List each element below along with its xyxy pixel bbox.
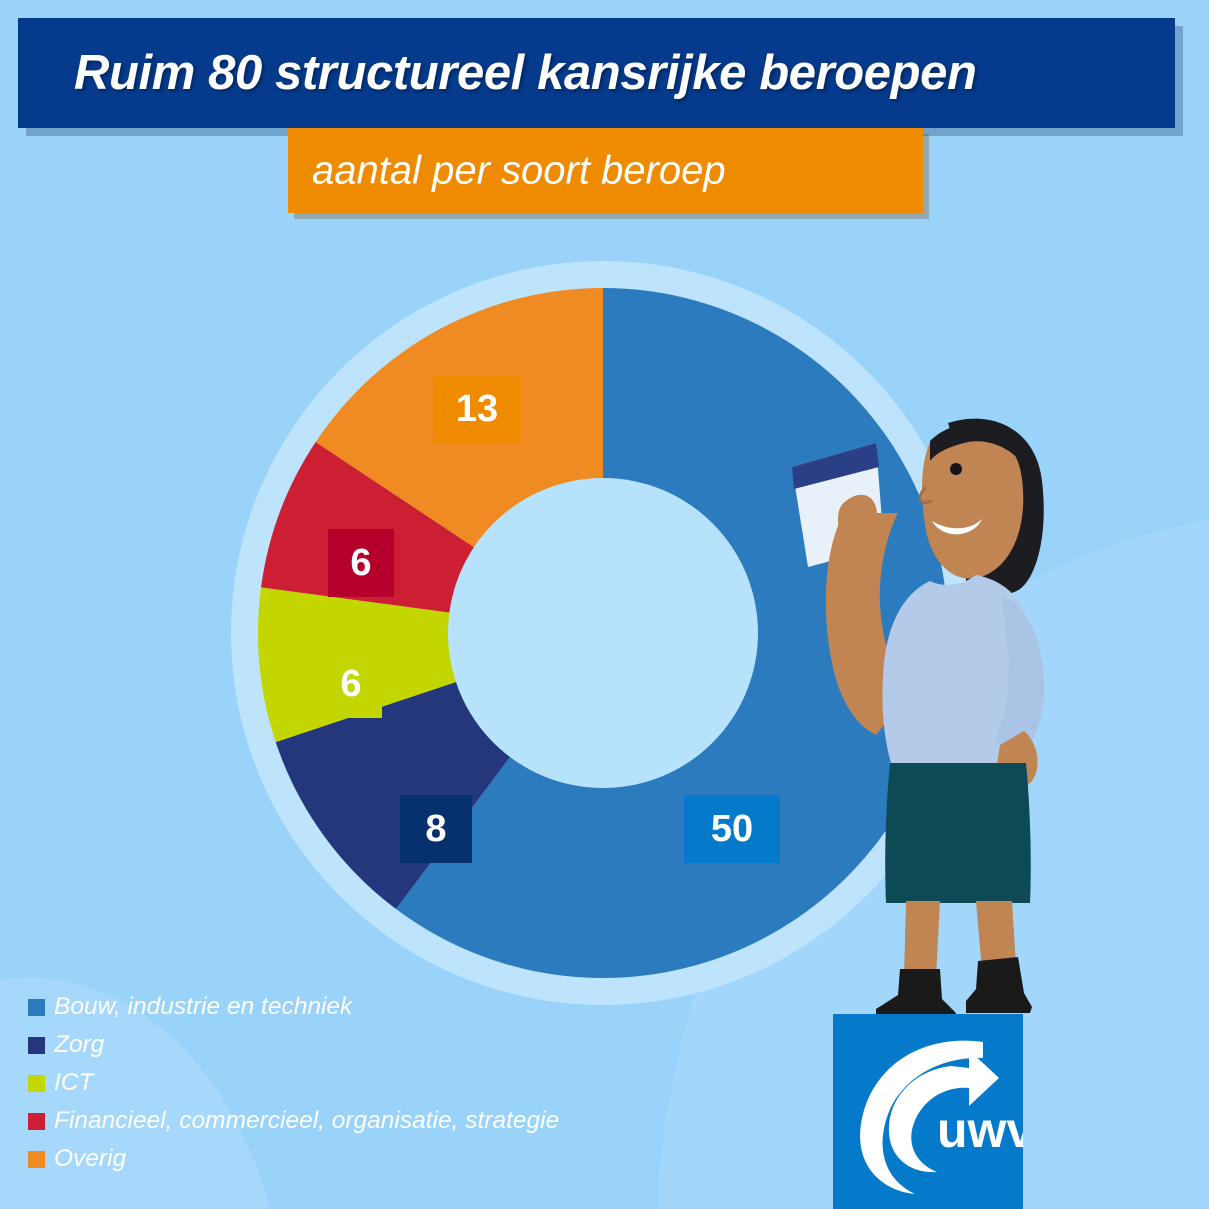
slice-label-zorg: 8 xyxy=(400,795,472,863)
legend-item[interactable]: Bouw, industrie en techniek xyxy=(28,988,728,1026)
page-title: Ruim 80 structureel kansrijke beroepen xyxy=(74,45,977,101)
legend-item-label: Bouw, industrie en techniek xyxy=(54,993,352,1021)
legend-item-label: Zorg xyxy=(54,1031,104,1059)
uwv-logo-mark-icon: uwv xyxy=(833,1014,1023,1209)
slice-label-value: 8 xyxy=(425,810,446,848)
slice-label-value: 13 xyxy=(456,390,498,428)
subtitle-box: aantal per soort beroep xyxy=(288,128,923,213)
slice-label-overig: 13 xyxy=(433,375,521,443)
legend-item-label: Financieel, commercieel, organisatie, st… xyxy=(54,1107,559,1135)
page-subtitle: aantal per soort beroep xyxy=(312,148,726,193)
skirt xyxy=(885,763,1031,903)
legend-swatch-icon xyxy=(28,1113,45,1130)
slice-label-value: 6 xyxy=(350,544,371,582)
legend-item[interactable]: Financieel, commercieel, organisatie, st… xyxy=(28,1102,728,1140)
slice-label-value: 50 xyxy=(711,810,753,848)
infographic-poster: Ruim 80 structureel kansrijke beroepen a… xyxy=(0,0,1209,1209)
right-boot xyxy=(966,957,1032,1013)
legend-swatch-icon xyxy=(28,1075,45,1092)
legend-item[interactable]: ICT xyxy=(28,1064,728,1102)
legend-item[interactable]: Zorg xyxy=(28,1026,728,1064)
legend-swatch-icon xyxy=(28,1151,45,1168)
legend-item-label: ICT xyxy=(54,1069,93,1097)
chart-legend: Bouw, industrie en techniek Zorg ICT Fin… xyxy=(28,988,728,1178)
uwv-logo[interactable]: uwv xyxy=(833,1014,1023,1209)
slice-label-value: 6 xyxy=(340,665,361,703)
legend-item[interactable]: Overig xyxy=(28,1140,728,1178)
slice-label-bouw-industrie-en-techniek: 50 xyxy=(684,795,780,863)
left-boot xyxy=(876,969,956,1019)
uwv-wordmark: uwv xyxy=(937,1102,1023,1158)
legend-swatch-icon xyxy=(28,1037,45,1054)
legend-item-label: Overig xyxy=(54,1145,126,1173)
eye xyxy=(950,463,962,475)
title-bar: Ruim 80 structureel kansrijke beroepen xyxy=(18,18,1175,128)
slice-label-financieel-commercieel-organisatie-strategie: 6 xyxy=(328,529,394,597)
slice-label-ict: 6 xyxy=(320,650,382,718)
left-leg xyxy=(904,901,940,977)
illustration-woman-holding-document xyxy=(780,395,1110,1020)
legend-swatch-icon xyxy=(28,999,45,1016)
donut-hole xyxy=(448,478,758,788)
